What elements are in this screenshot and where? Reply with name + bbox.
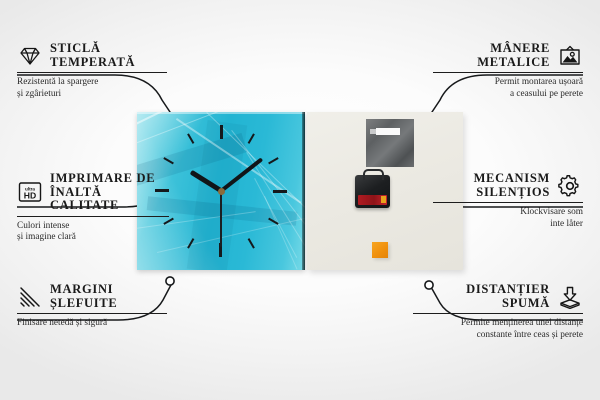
callout-description: Permite menținerea unei distanțe constan… <box>413 318 583 341</box>
connector-endpoint <box>166 277 174 285</box>
diamond-icon <box>17 44 43 68</box>
callout-rule <box>413 313 583 314</box>
foam-spacer-detail <box>372 242 388 258</box>
callout-rule <box>433 72 583 73</box>
ultra-hd-icon: ultra HD <box>17 180 43 204</box>
callout-title: IMPRIMARE DE ÎNALTĂ CALITATE <box>50 172 169 213</box>
callout-description: Culori intense și imagine clară <box>17 221 169 244</box>
hatched-edge-icon <box>17 285 43 309</box>
callout-polished-edges: MARGINI ȘLEFUITE Finisare netedă și sigu… <box>17 283 167 330</box>
callout-title: DISTANȚIER SPUMĂ <box>466 283 550 310</box>
callout-silent-mechanism: MECANISM SILENȚIOS Klockvisare som inte … <box>433 172 583 230</box>
callout-title: MÂNERE METALICE <box>477 42 550 69</box>
callout-description: Klockvisare som inte låter <box>433 207 583 230</box>
clock-second-hand <box>220 191 222 247</box>
picture-hanger-icon <box>557 44 583 68</box>
press-down-icon <box>557 285 583 309</box>
gear-icon <box>557 174 583 198</box>
callout-description: Rezistentă la spargere și zgârieturi <box>17 77 167 100</box>
callout-description: Permit montarea ușoară a ceasului pe per… <box>433 77 583 100</box>
callout-foam-spacer: DISTANȚIER SPUMĂ Permite menținerea unei… <box>413 283 583 341</box>
metal-hanger-detail <box>366 119 414 167</box>
callout-rule <box>17 72 167 73</box>
svg-text:HD: HD <box>24 191 36 201</box>
clock-center-cap <box>218 188 225 195</box>
callout-metal-handles: MÂNERE METALICE Permit montarea ușoară a… <box>433 42 583 100</box>
callout-title: MECANISM SILENȚIOS <box>474 172 550 199</box>
callout-rule <box>433 202 583 203</box>
callout-title: MARGINI ȘLEFUITE <box>50 283 117 310</box>
callout-title: STICLĂ TEMPERATĂ <box>50 42 135 69</box>
clock-mechanism-detail <box>355 175 390 208</box>
infographic-canvas: STICLĂ TEMPERATĂ Rezistentă la spargere … <box>0 0 600 400</box>
product-photo <box>137 112 463 270</box>
callout-tempered-glass: STICLĂ TEMPERATĂ Rezistentă la spargere … <box>17 42 167 100</box>
callout-rule <box>17 216 169 217</box>
callout-description: Finisare netedă și sigură <box>17 318 167 329</box>
callout-hd-print: ultra HD IMPRIMARE DE ÎNALTĂ CALITATE Cu… <box>17 172 169 244</box>
callout-rule <box>17 313 167 314</box>
